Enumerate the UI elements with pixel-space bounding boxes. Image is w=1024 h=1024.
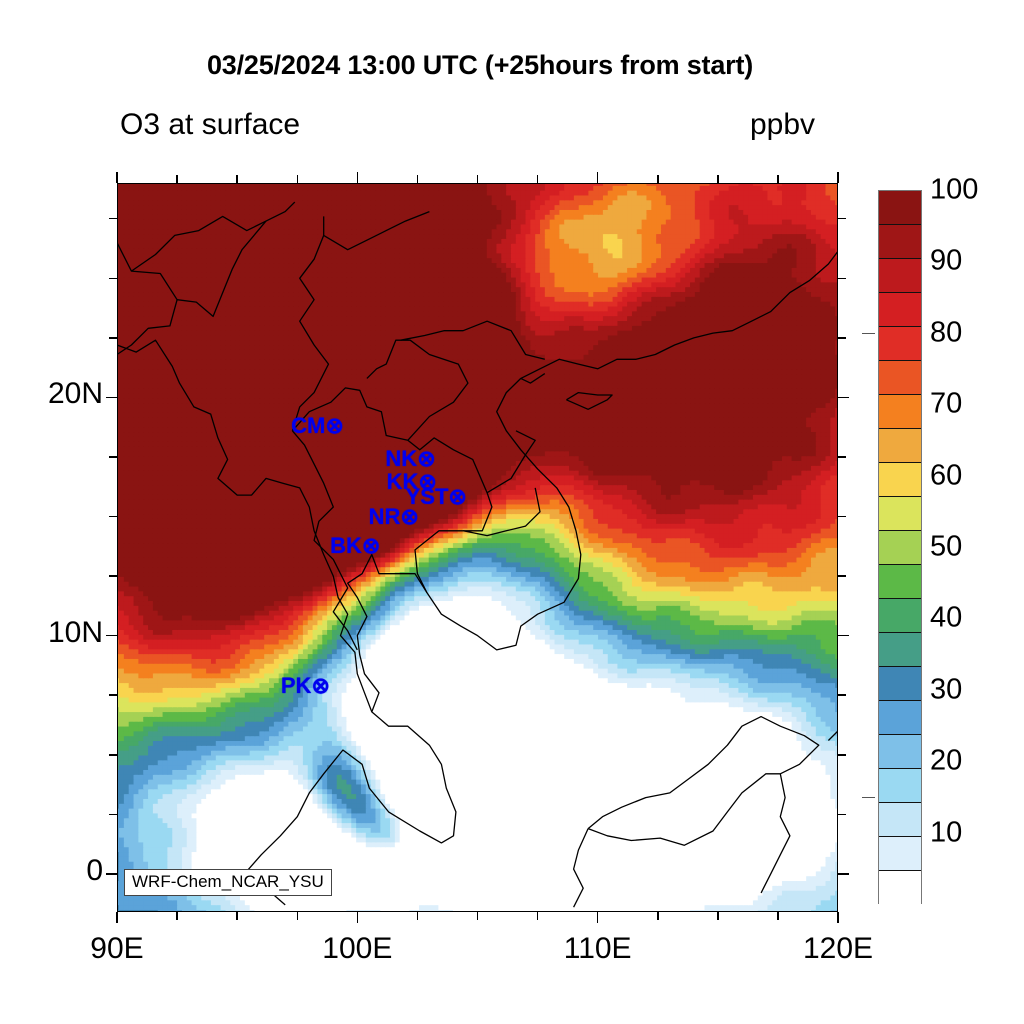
x-tick-top [357,172,359,183]
y-axis-label: 10N [0,616,103,650]
colorbar-band [879,565,921,599]
x-axis-label: 100E [297,932,417,966]
y-axis-label: 20N [0,377,103,411]
x-axis-label: 90E [57,932,177,966]
colorbar-tick [862,797,875,799]
colorbar-band [879,735,921,769]
colorbar-band [879,463,921,497]
colorbar-tick-label: 100 [930,174,978,207]
y-tick-right [838,754,846,756]
colorbar-band [879,837,921,871]
page-title: 03/25/2024 13:00 UTC (+25hours from star… [0,50,960,81]
x-tick-top [597,172,599,183]
x-tick-bottom [116,912,118,923]
colorbar-band [879,361,921,395]
colorbar-band [879,803,921,837]
x-tick-bottom [777,912,779,920]
x-tick-bottom [176,912,178,920]
station-cross-circle-icon: ⊗ [325,413,343,439]
x-tick-top [537,175,539,183]
colorbar-band [879,599,921,633]
colorbar-tick-label: 40 [930,602,962,635]
colorbar-band [879,191,921,225]
colorbar-band [879,633,921,667]
colorbar-tick-label: 90 [930,245,962,278]
y-tick-right [838,397,849,399]
y-tick-right [838,873,849,875]
x-tick-bottom [657,912,659,920]
y-tick-right [838,456,846,458]
y-tick-right [838,814,846,816]
x-tick-bottom [357,912,359,923]
y-tick-right [838,575,846,577]
colorbar-band [879,769,921,803]
y-tick-right [838,337,846,339]
x-tick-bottom [597,912,599,923]
y-tick-right [838,694,846,696]
colorbar-tick-label: 30 [930,673,962,706]
x-tick-top [297,175,299,183]
x-tick-top [837,172,839,183]
units-label: ppbv [750,108,815,142]
colorbar-band [879,531,921,565]
colorbar-band [879,429,921,463]
colorbar-tick-label: 10 [930,816,962,849]
x-tick-bottom [477,912,479,920]
x-tick-top [176,175,178,183]
y-tick-right [838,516,846,518]
x-tick-bottom [717,912,719,920]
y-tick-left [106,635,117,637]
colorbar-band [879,327,921,361]
y-axis-label: 0 [0,854,103,888]
y-tick-left [109,575,117,577]
x-tick-bottom [417,912,419,920]
ozone-contour-map [117,183,838,912]
station-marker-nk: NK⊗ [385,446,435,472]
x-tick-top [777,175,779,183]
y-tick-left [109,456,117,458]
y-tick-left [109,337,117,339]
x-tick-bottom [236,912,238,920]
station-marker-cm: CM⊗ [291,413,344,439]
colorbar-band [879,667,921,701]
y-tick-right [838,635,849,637]
y-tick-left [109,218,117,220]
y-tick-left [106,397,117,399]
station-cross-circle-icon: ⊗ [448,484,466,510]
station-label: PK [281,673,312,698]
x-tick-top [717,175,719,183]
colorbar-tick-label: 20 [930,745,962,778]
x-tick-top [477,175,479,183]
station-cross-circle-icon: ⊗ [400,504,418,530]
colorbar-band [879,259,921,293]
colorbar-tick-label: 50 [930,531,962,564]
x-tick-top [116,172,118,183]
colorbar-tick-label: 80 [930,316,962,349]
station-label: CM [291,413,325,438]
y-tick-left [106,873,117,875]
station-marker-pk: PK⊗ [281,673,330,699]
station-label: NR [369,504,401,529]
y-tick-right [838,218,846,220]
x-tick-bottom [537,912,539,920]
colorbar-band [879,871,921,905]
station-cross-circle-icon: ⊗ [311,673,329,699]
x-tick-top [417,175,419,183]
plot-subtitle: O3 at surface [120,108,300,142]
colorbar-band [879,225,921,259]
y-tick-left [109,694,117,696]
station-cross-circle-icon: ⊗ [417,446,435,472]
colorbar-band [879,293,921,327]
map-plot-area [117,183,838,912]
y-tick-left [109,754,117,756]
y-tick-left [109,278,117,280]
x-tick-bottom [297,912,299,920]
x-tick-bottom [837,912,839,923]
model-stamp: WRF-Chem_NCAR_YSU [124,869,332,896]
x-tick-top [236,175,238,183]
colorbar-band [879,395,921,429]
y-tick-right [838,278,846,280]
station-marker-nr: NR⊗ [369,504,419,530]
colorbar-tick-label: 60 [930,459,962,492]
station-cross-circle-icon: ⊗ [362,533,380,559]
colorbar-tick [862,333,875,335]
x-axis-label: 110E [538,932,658,966]
x-tick-top [657,175,659,183]
colorbar [878,190,922,904]
x-axis-label: 120E [778,932,898,966]
station-label: NK [385,446,417,471]
y-tick-left [109,814,117,816]
y-tick-left [109,516,117,518]
colorbar-tick-label: 70 [930,388,962,421]
colorbar-band [879,701,921,735]
station-label: BK [330,533,362,558]
station-marker-bk: BK⊗ [330,533,380,559]
colorbar-band [879,497,921,531]
